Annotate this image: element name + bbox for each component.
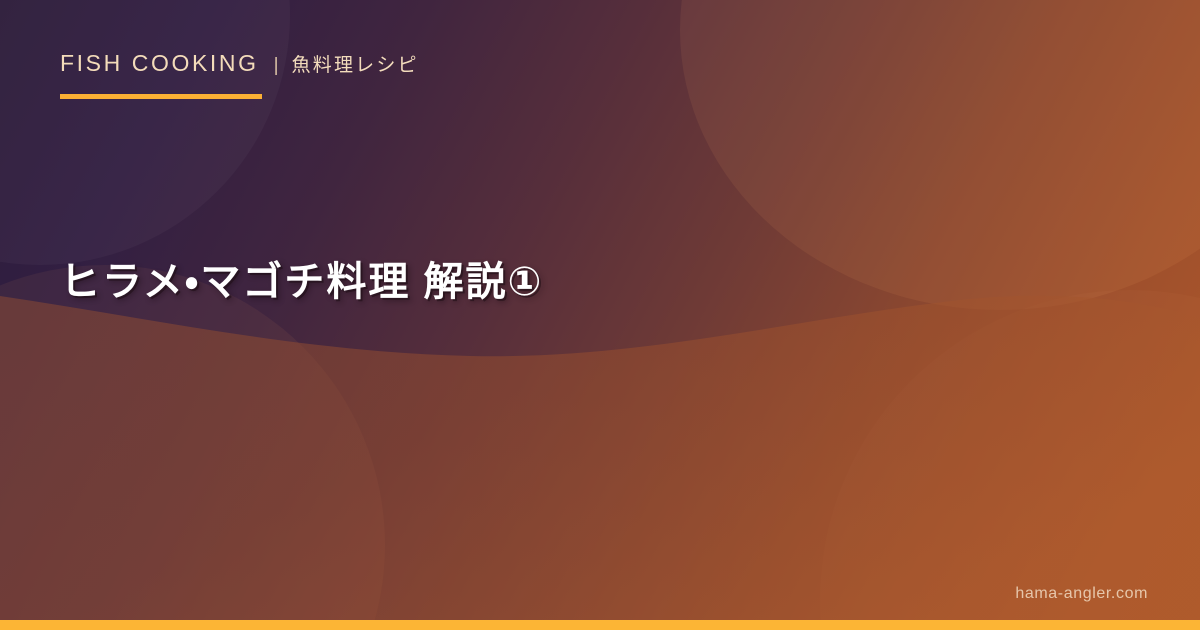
site-url-label: hama-angler.com	[1015, 586, 1148, 602]
gold-accent-rule	[60, 94, 262, 99]
circle-top-left-shape	[0, 0, 290, 265]
brand-name-ja: 魚料理レシピ	[292, 56, 419, 75]
circle-bottom-right-shape	[820, 290, 1200, 630]
brand-name-en: FISH COOKING	[60, 52, 259, 75]
circle-bottom-left-shape	[0, 265, 385, 630]
og-banner-card: FISH COOKING | 魚料理レシピ ヒラメ・マゴチ料理 解説① hama…	[0, 0, 1200, 630]
bottom-gold-bar	[0, 620, 1200, 630]
brand-header-line: FISH COOKING | 魚料理レシピ	[60, 52, 419, 75]
title-block: ヒラメ・マゴチ料理 解説①	[60, 255, 1140, 310]
brand-header: FISH COOKING | 魚料理レシピ	[60, 52, 419, 99]
page-title: ヒラメ・マゴチ料理 解説①	[60, 255, 1140, 310]
brand-separator: |	[274, 56, 279, 75]
